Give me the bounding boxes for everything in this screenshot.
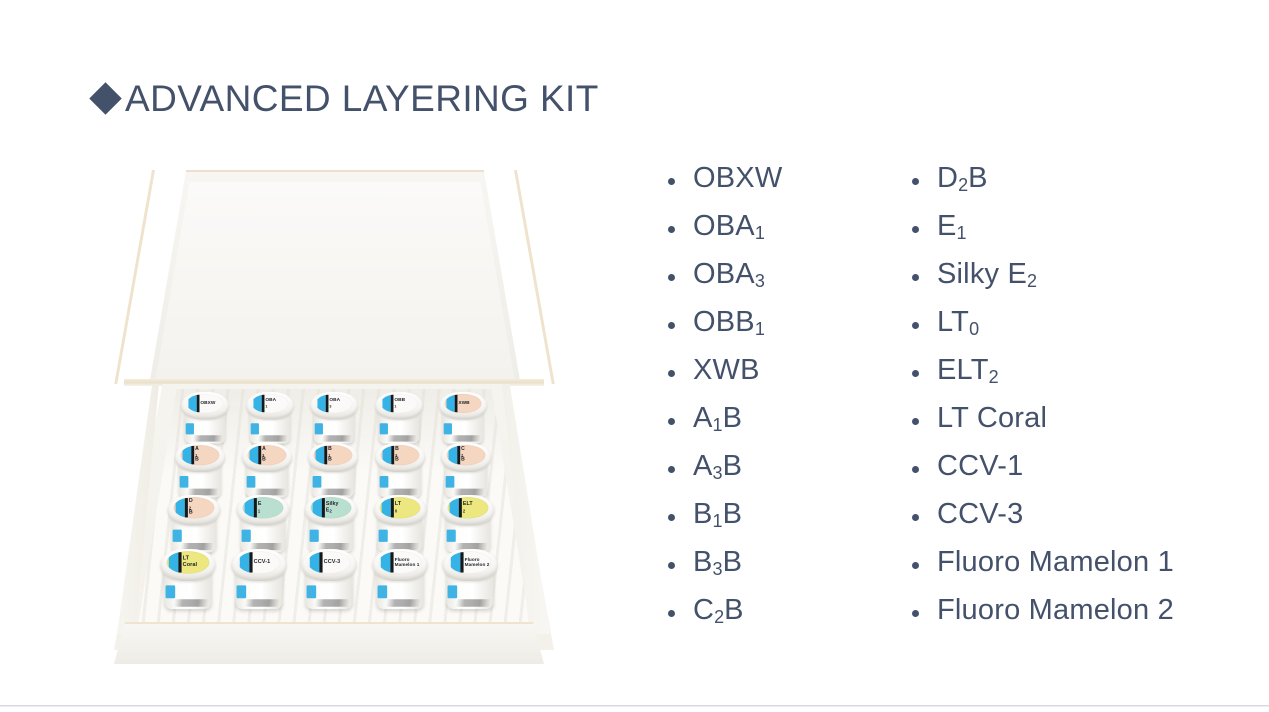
shade-list-item: CCV-1 — [912, 450, 1132, 498]
jar-brand-mark — [451, 435, 481, 441]
jar-label-text: FluoroMamelon 1 — [394, 551, 420, 573]
shade-list-item: B1B — [668, 498, 888, 546]
bullet-icon — [912, 370, 919, 377]
shade-list-item-label: ELT2 — [937, 354, 999, 387]
shade-list-item: OBXW — [668, 162, 888, 210]
shade-list-item-label: OBA3 — [693, 258, 765, 291]
jar-label-black-bar — [178, 552, 181, 572]
jar-label-black-bar — [253, 498, 256, 517]
jar-body-color-tab — [186, 423, 194, 434]
jar-label-cyan-swatch — [382, 445, 391, 465]
shade-list-item-label: Fluoro Mamelon 1 — [937, 546, 1174, 579]
shade-list-item: A3B — [668, 450, 888, 498]
shade-list-item: LT0 — [912, 306, 1132, 354]
shade-jar: A1B — [175, 443, 225, 497]
jar-label: ELT2 — [448, 497, 489, 518]
shade-jar: D2B — [167, 495, 220, 552]
jar-body-color-tab — [444, 423, 452, 434]
jar-label-black-bar — [457, 446, 459, 464]
bullet-icon — [668, 610, 675, 617]
jar-label-cyan-swatch — [313, 497, 322, 518]
shade-list-item: Fluoro Mamelon 1 — [912, 546, 1132, 594]
jar-label: OBXW — [187, 394, 224, 413]
bullet-icon — [668, 370, 675, 377]
jar-label-text: B1B — [328, 445, 351, 465]
jar-brand-mark — [322, 435, 352, 441]
jar-label-text: A1B — [195, 445, 218, 465]
jar-label-cyan-swatch — [316, 445, 325, 465]
jar-body-color-tab — [446, 476, 455, 488]
jar-label-text: LT0 — [394, 497, 418, 518]
shade-jar: B1B — [308, 443, 358, 497]
jar-label-cyan-swatch — [253, 394, 261, 413]
jar-label-cyan-swatch — [451, 551, 461, 573]
jar-label-black-bar — [258, 446, 260, 464]
shade-list-item: E1 — [912, 210, 1132, 258]
jar-label-text: SilkyE2 — [326, 497, 350, 518]
shade-list-item: Fluoro Mamelon 2 — [912, 594, 1132, 642]
jar-label-cyan-swatch — [381, 497, 390, 518]
shade-list-item-label: CCV-1 — [937, 450, 1023, 483]
jar-label: C2B — [447, 445, 486, 465]
product-image: OBXWOBA1OBA3OBB1XWBA1BA3BB1BB3BC2BD2BE1S… — [104, 160, 564, 672]
jar-brand-mark — [174, 599, 209, 606]
jar-label: FluoroMamelon 1 — [378, 551, 421, 573]
shade-list-item-label: OBB1 — [693, 306, 765, 339]
jar-label-text: B3B — [395, 445, 418, 465]
jar-label-black-bar — [390, 498, 393, 517]
jar-label-cyan-swatch — [244, 497, 253, 518]
bullet-icon — [912, 274, 919, 281]
shade-list-item: OBA1 — [668, 210, 888, 258]
jar-label: CCV-3 — [308, 551, 351, 573]
shade-list-item-label: XWB — [693, 354, 760, 387]
shade-list-item: ELT2 — [912, 354, 1132, 402]
jar-label-cyan-swatch — [188, 394, 196, 413]
shade-list-item-label: Fluoro Mamelon 2 — [937, 594, 1174, 627]
shade-list-item-label: LT0 — [937, 306, 979, 339]
jar-label-text: CCV-1 — [253, 551, 279, 573]
jar-body-color-tab — [447, 530, 456, 542]
jar-label: D2B — [174, 497, 215, 518]
jar-label-cyan-swatch — [183, 445, 192, 465]
bullet-icon — [668, 322, 675, 329]
jar-label-text: FluoroMamelon 2 — [465, 551, 491, 573]
jar-label-text: D2B — [189, 497, 213, 518]
jar-label-cyan-swatch — [169, 551, 179, 573]
shade-jar: E1 — [236, 495, 289, 552]
jar-label-cyan-swatch — [239, 551, 249, 573]
jar-label-black-bar — [390, 552, 393, 572]
jar-brand-mark — [257, 435, 287, 441]
jar-brand-mark — [315, 599, 350, 606]
jar-label-black-bar — [185, 498, 188, 517]
page-title: ADVANCED LAYERING KIT — [94, 80, 599, 117]
shade-list-item-label: E1 — [937, 210, 967, 243]
jar-label-cyan-swatch — [380, 551, 390, 573]
shade-jar: CCV-3 — [301, 549, 357, 609]
jar-brand-mark — [193, 435, 223, 441]
shade-list-item-label: C2B — [693, 594, 744, 627]
jar-body-color-tab — [166, 585, 176, 598]
shade-jar: OBA3 — [310, 392, 358, 444]
jar-label-text: E1 — [257, 497, 281, 518]
shade-jar: OBB1 — [375, 392, 423, 444]
jar-label: LTCoral — [167, 551, 210, 573]
jar-label: OBA3 — [316, 394, 353, 413]
bullet-icon — [912, 178, 919, 185]
jar-label: A1B — [181, 445, 220, 465]
bullet-icon — [912, 226, 919, 233]
shade-list-item-label: D2B — [937, 162, 988, 195]
jar-label-cyan-swatch — [249, 445, 258, 465]
jar-label-black-bar — [391, 446, 393, 464]
jar-label-black-bar — [326, 395, 328, 412]
jar-label-text: OBA1 — [265, 394, 287, 413]
jar-label-cyan-swatch — [382, 394, 390, 413]
jar-body-color-tab — [250, 423, 258, 434]
jar-label: OBB1 — [380, 394, 417, 413]
shade-list-item-label: B1B — [693, 498, 742, 531]
shade-jar: CCV-1 — [231, 549, 287, 609]
jar-brand-mark — [386, 435, 416, 441]
jar-label: B3B — [380, 445, 419, 465]
bullet-icon — [912, 466, 919, 473]
bullet-icon — [668, 418, 675, 425]
bullet-icon — [668, 514, 675, 521]
jar-body-color-tab — [310, 530, 319, 542]
bullet-icon — [668, 466, 675, 473]
shade-jar: FluoroMamelon 2 — [442, 549, 498, 609]
jar-brand-mark — [385, 599, 420, 606]
jar-body-color-tab — [313, 476, 322, 488]
shade-list-item-label: A3B — [693, 450, 742, 483]
page-title-text: ADVANCED LAYERING KIT — [125, 80, 599, 117]
slide-canvas: ADVANCED LAYERING KIT OBXWOBA1OBA3OBB1XW… — [0, 0, 1269, 712]
shade-list-item: XWB — [668, 354, 888, 402]
bullet-icon — [912, 514, 919, 521]
jar-body-color-tab — [448, 585, 458, 598]
jar-body-color-tab — [378, 530, 387, 542]
jar-body-color-tab — [379, 423, 387, 434]
jar-label-text: OBB1 — [394, 394, 416, 413]
jar-label-black-bar — [322, 498, 325, 517]
bullet-icon — [912, 610, 919, 617]
jar-label-cyan-swatch — [446, 394, 454, 413]
jar-label-black-bar — [261, 395, 263, 412]
jar-label-black-bar — [324, 446, 326, 464]
jar-label-text: LTCoral — [183, 551, 209, 573]
shade-list-item: OBA3 — [668, 258, 888, 306]
jar-label: SilkyE2 — [311, 497, 352, 518]
jar-grid: OBXWOBA1OBA3OBB1XWBA1BA3BB1BB3BC2BD2BE1S… — [104, 160, 564, 672]
jar-label-black-bar — [390, 395, 392, 412]
shade-list-item: LT Coral — [912, 402, 1132, 450]
shade-list-item: D2B — [912, 162, 1132, 210]
shade-list-item-label: B3B — [693, 546, 742, 579]
jar-label-black-bar — [191, 446, 193, 464]
jar-label-cyan-swatch — [176, 497, 185, 518]
jar-body-color-tab — [307, 585, 317, 598]
bullet-icon — [912, 418, 919, 425]
shade-list-item-label: CCV-3 — [937, 498, 1023, 531]
jar-brand-mark — [456, 599, 491, 606]
shade-jar: ELT2 — [441, 495, 494, 552]
jar-label: OBA1 — [251, 394, 288, 413]
jar-label-black-bar — [460, 552, 463, 572]
jar-label-text: ELT2 — [463, 497, 487, 518]
jar-label-black-bar — [197, 395, 199, 412]
jar-body-color-tab — [315, 423, 323, 434]
jar-label-cyan-swatch — [449, 445, 458, 465]
footer-divider-shadow — [0, 706, 1269, 707]
jar-label-black-bar — [459, 498, 462, 517]
jar-body-color-tab — [379, 476, 388, 488]
jar-label-black-bar — [455, 395, 457, 412]
shade-list-item: A1B — [668, 402, 888, 450]
jar-body-color-tab — [180, 476, 189, 488]
shade-jar: LT0 — [373, 495, 426, 552]
jar-body-color-tab — [173, 530, 182, 542]
bullet-icon — [668, 226, 675, 233]
shade-list-right: D2BE1Silky E2LT0ELT2LT CoralCCV-1CCV-3Fl… — [912, 162, 1132, 642]
jar-label: A3B — [247, 445, 286, 465]
jar-label-black-bar — [249, 552, 252, 572]
shade-list-item: CCV-3 — [912, 498, 1132, 546]
shade-list-item-label: A1B — [693, 402, 742, 435]
jar-body-color-tab — [241, 530, 250, 542]
jar-label-text: OBA3 — [329, 394, 351, 413]
shade-list-item-label: LT Coral — [937, 402, 1047, 435]
shade-list-item: Silky E2 — [912, 258, 1132, 306]
shade-jar: B3B — [374, 443, 424, 497]
shade-jar: SilkyE2 — [304, 495, 357, 552]
jar-label: CCV-1 — [237, 551, 280, 573]
jar-body-color-tab — [377, 585, 387, 598]
shade-jar: C2B — [441, 443, 491, 497]
jar-label-text: C2B — [461, 445, 484, 465]
shade-list-left: OBXWOBA1OBA3OBB1XWBA1BA3BB1BB3BC2B — [668, 162, 888, 642]
bullet-icon — [912, 562, 919, 569]
jar-label-text: CCV-3 — [324, 551, 350, 573]
jar-label-cyan-swatch — [317, 394, 325, 413]
bullet-icon — [668, 274, 675, 281]
diamond-icon — [89, 82, 122, 115]
shade-jar: OBXW — [181, 392, 229, 444]
bullet-icon — [668, 562, 675, 569]
shade-jar: XWB — [439, 392, 487, 444]
jar-label-text: OBXW — [200, 394, 222, 413]
jar-body-color-tab — [246, 476, 255, 488]
shade-list-item-label: Silky E2 — [937, 258, 1037, 291]
shade-jar: OBA1 — [246, 392, 294, 444]
bullet-icon — [912, 322, 919, 329]
shade-list-item-label: OBA1 — [693, 210, 765, 243]
jar-label-cyan-swatch — [450, 497, 459, 518]
shade-lists: OBXWOBA1OBA3OBB1XWBA1BA3BB1BB3BC2B D2BE1… — [668, 162, 1132, 642]
shade-jar: FluoroMamelon 1 — [372, 549, 428, 609]
shade-list-item: OBB1 — [668, 306, 888, 354]
shade-jar: LTCoral — [160, 549, 216, 609]
jar-label: LT0 — [379, 497, 420, 518]
jar-label: FluoroMamelon 2 — [449, 551, 492, 573]
jar-label-black-bar — [319, 552, 322, 572]
jar-label: B1B — [314, 445, 353, 465]
jar-label-cyan-swatch — [310, 551, 320, 573]
jar-body-color-tab — [236, 585, 246, 598]
jar-label-text: XWB — [458, 394, 480, 413]
bullet-icon — [668, 178, 675, 185]
jar-brand-mark — [244, 599, 279, 606]
jar-label-text: A3B — [262, 445, 285, 465]
shade-list-item-label: OBXW — [693, 162, 782, 195]
shade-list-item: B3B — [668, 546, 888, 594]
jar-label: XWB — [445, 394, 482, 413]
shade-jar: A3B — [241, 443, 291, 497]
shade-list-item: C2B — [668, 594, 888, 642]
jar-label: E1 — [242, 497, 283, 518]
